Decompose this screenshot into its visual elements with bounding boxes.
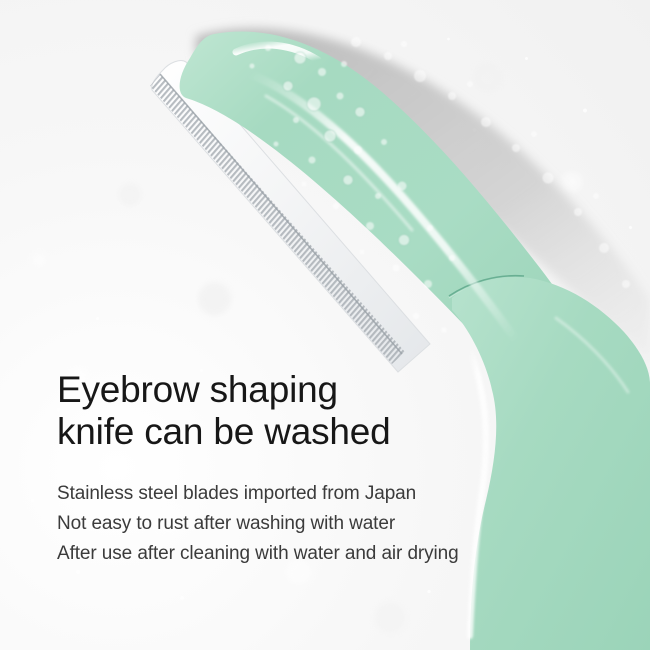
feature-list: Stainless steel blades imported from Jap… (57, 479, 617, 569)
product-marketing-image: Eyebrow shaping knife can be washed Stai… (0, 0, 650, 650)
list-item: Stainless steel blades imported from Jap… (57, 479, 617, 509)
list-item: Not easy to rust after washing with wate… (57, 509, 617, 539)
page-title: Eyebrow shaping knife can be washed (57, 369, 617, 453)
list-item: After use after cleaning with water and … (57, 539, 617, 569)
marketing-copy: Eyebrow shaping knife can be washed Stai… (57, 369, 617, 569)
